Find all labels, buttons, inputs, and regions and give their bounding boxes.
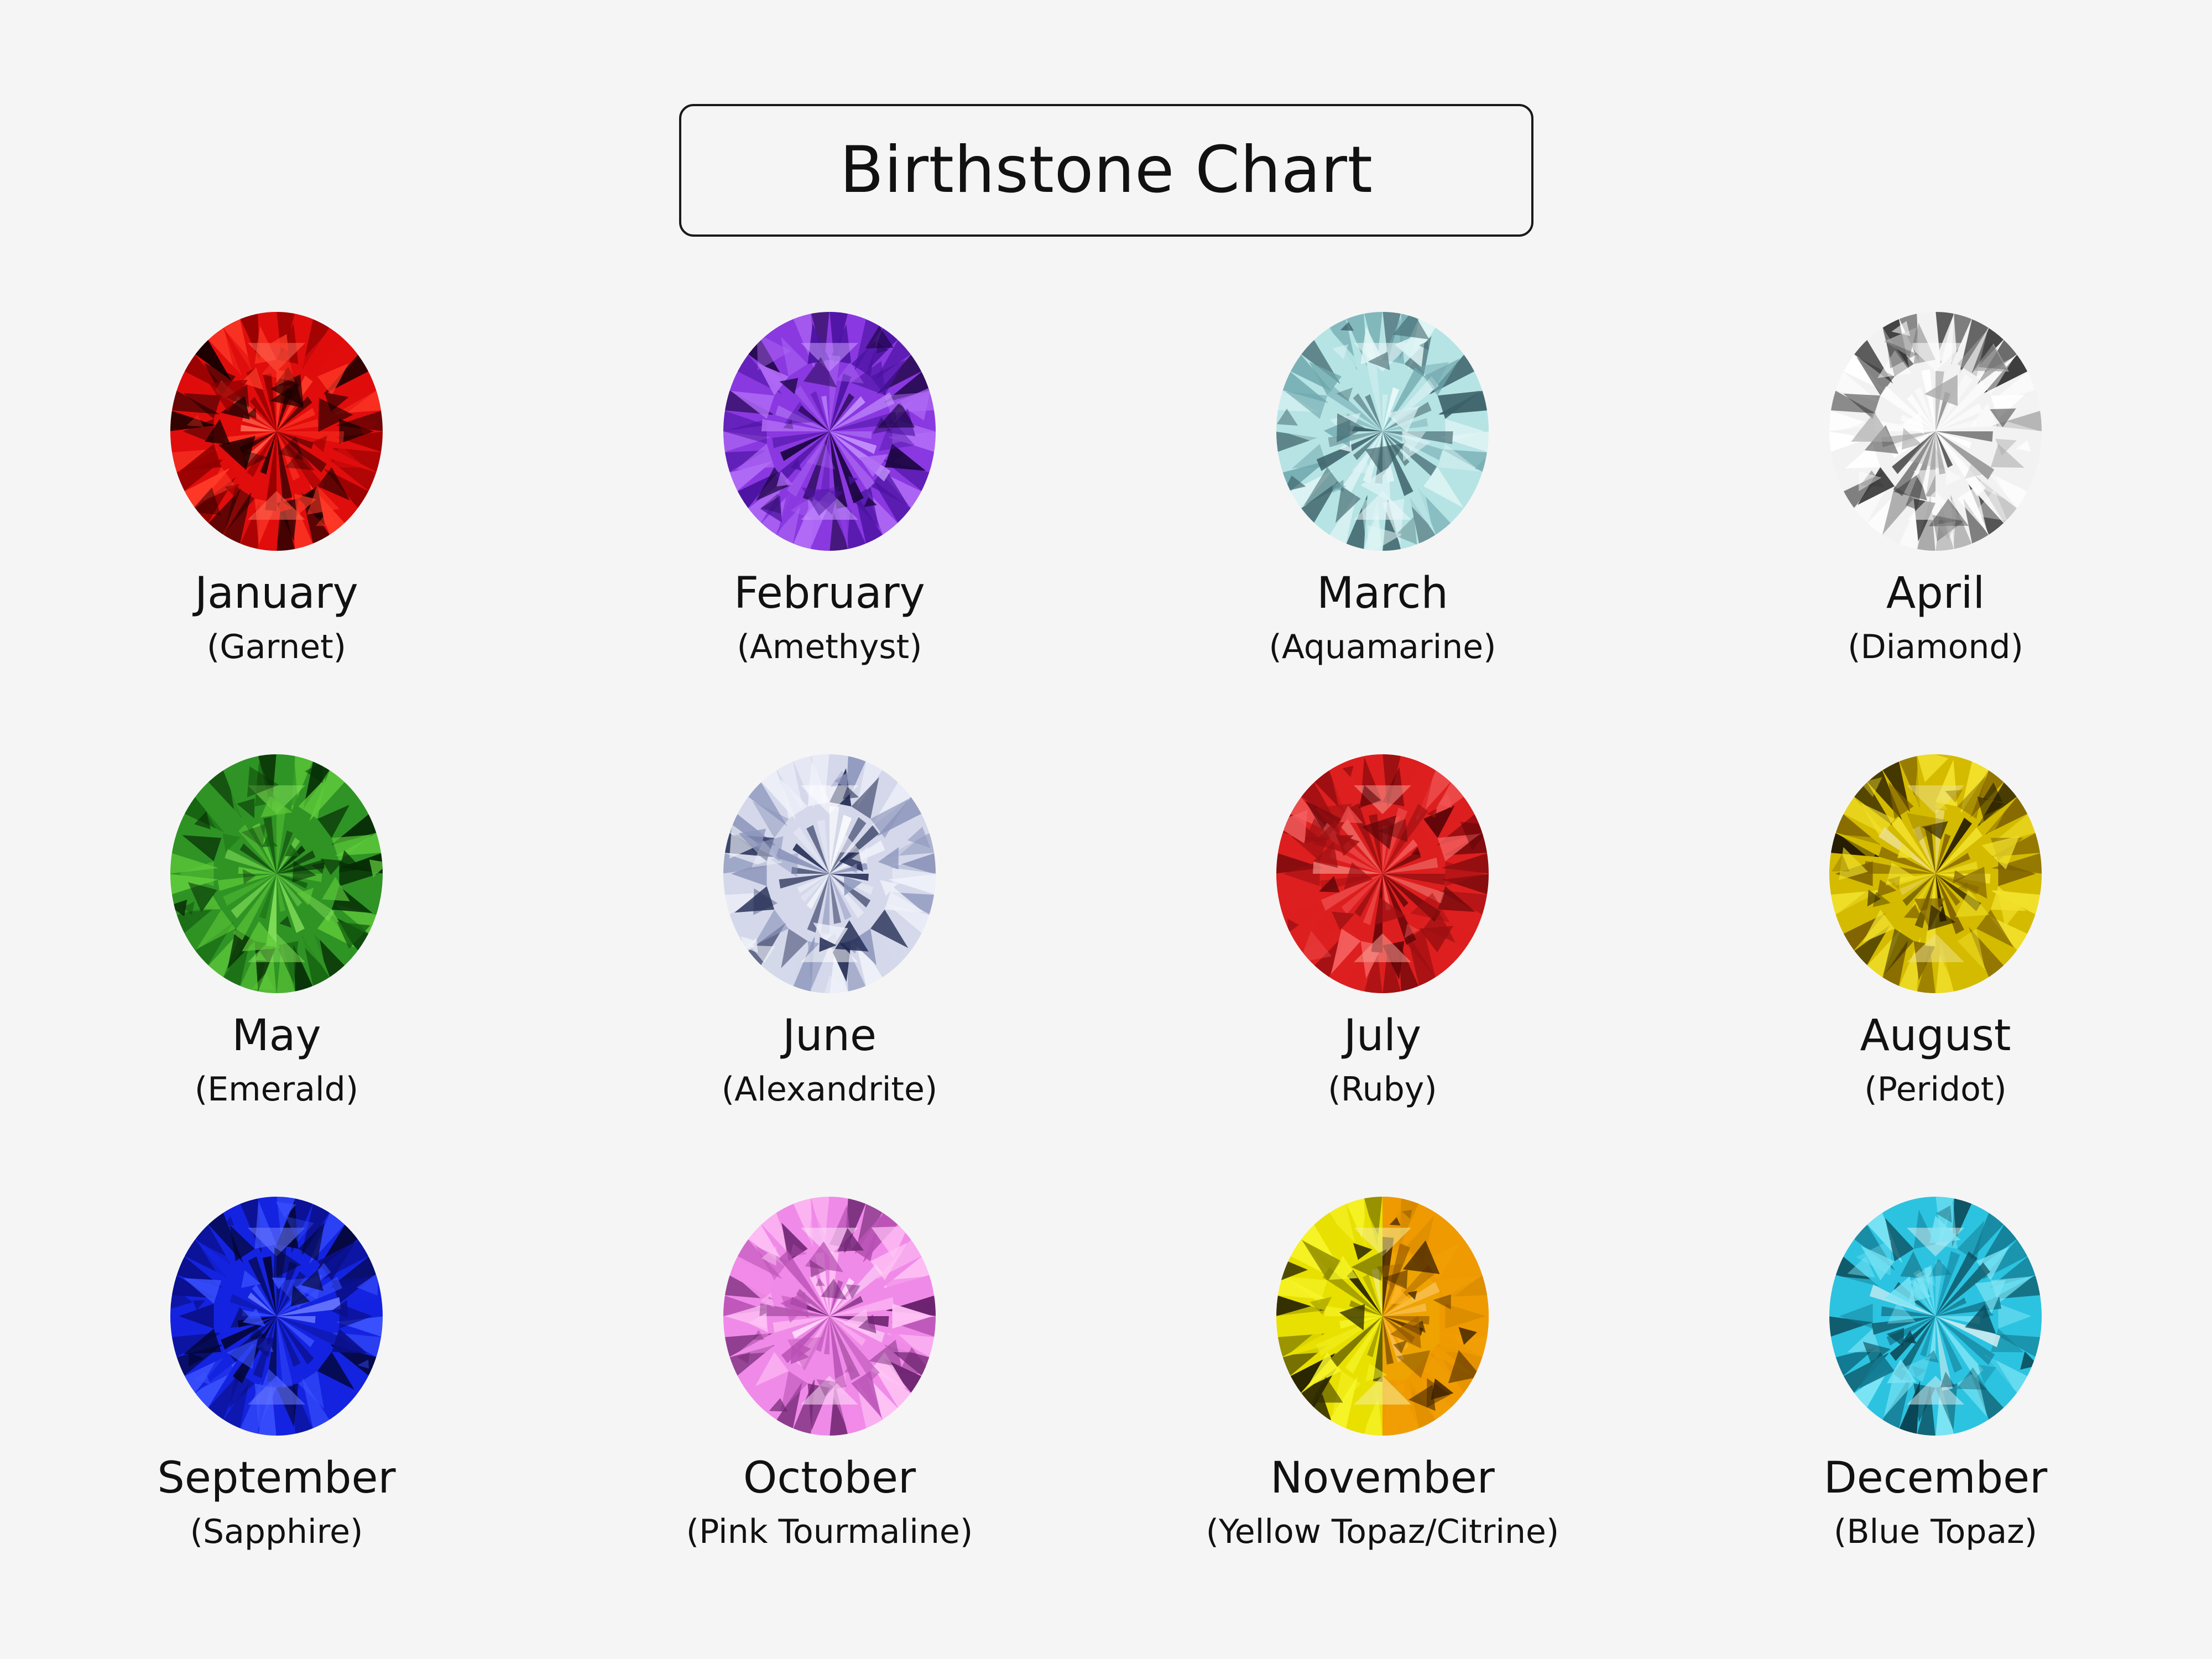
birthstone-cell-december[interactable]: December(Blue Topaz) bbox=[1659, 1194, 2212, 1637]
birthstone-row: September(Sapphire)October(Pink Tourmali… bbox=[0, 1194, 2212, 1637]
birthstone-cell-january[interactable]: January(Garnet) bbox=[0, 310, 553, 752]
stone-name-label: (Sapphire) bbox=[190, 1515, 363, 1548]
gem-icon-blue-topaz bbox=[1814, 1194, 2057, 1438]
birthstone-cell-may[interactable]: May(Emerald) bbox=[0, 752, 553, 1194]
stone-name-label: (Peridot) bbox=[1864, 1073, 2006, 1106]
stone-name-label: (Blue Topaz) bbox=[1834, 1515, 2037, 1548]
gem-icon-ruby bbox=[1261, 752, 1504, 995]
birthstone-cell-february[interactable]: February(Amethyst) bbox=[553, 310, 1106, 752]
birthstone-chart-page: Birthstone Chart January(Garnet)February… bbox=[0, 0, 2212, 1659]
month-label: January bbox=[195, 572, 358, 615]
month-label: October bbox=[743, 1457, 916, 1500]
month-label: August bbox=[1860, 1014, 2011, 1057]
birthstone-grid: January(Garnet)February(Amethyst)March(A… bbox=[0, 310, 2212, 1637]
month-label: July bbox=[1344, 1014, 1421, 1057]
birthstone-cell-april[interactable]: April(Diamond) bbox=[1659, 310, 2212, 752]
stone-name-label: (Ruby) bbox=[1328, 1073, 1437, 1106]
stone-name-label: (Alexandrite) bbox=[722, 1073, 938, 1106]
month-label: November bbox=[1270, 1457, 1495, 1500]
birthstone-cell-july[interactable]: July(Ruby) bbox=[1106, 752, 1659, 1194]
birthstone-cell-september[interactable]: September(Sapphire) bbox=[0, 1194, 553, 1637]
birthstone-cell-october[interactable]: October(Pink Tourmaline) bbox=[553, 1194, 1106, 1637]
gem-icon-yellow-topaz-citrine bbox=[1261, 1194, 1504, 1438]
gem-icon-aquamarine bbox=[1261, 310, 1504, 553]
birthstone-cell-june[interactable]: June(Alexandrite) bbox=[553, 752, 1106, 1194]
birthstone-cell-november[interactable]: November(Yellow Topaz/Citrine) bbox=[1106, 1194, 1659, 1637]
stone-name-label: (Diamond) bbox=[1848, 630, 2023, 664]
month-label: February bbox=[734, 572, 925, 615]
stone-name-label: (Yellow Topaz/Citrine) bbox=[1206, 1515, 1559, 1548]
page-title: Birthstone Chart bbox=[840, 138, 1373, 202]
birthstone-cell-august[interactable]: August(Peridot) bbox=[1659, 752, 2212, 1194]
gem-icon-garnet bbox=[155, 310, 398, 553]
gem-icon-peridot bbox=[1814, 752, 2057, 995]
gem-icon-emerald bbox=[155, 752, 398, 995]
chart-title-box: Birthstone Chart bbox=[679, 104, 1533, 237]
gem-icon-amethyst bbox=[708, 310, 951, 553]
birthstone-cell-march[interactable]: March(Aquamarine) bbox=[1106, 310, 1659, 752]
month-label: April bbox=[1886, 572, 1985, 615]
gem-icon-diamond bbox=[1814, 310, 2057, 553]
stone-name-label: (Amethyst) bbox=[737, 630, 922, 664]
birthstone-row: January(Garnet)February(Amethyst)March(A… bbox=[0, 310, 2212, 752]
month-label: September bbox=[157, 1457, 395, 1500]
stone-name-label: (Emerald) bbox=[195, 1073, 358, 1106]
month-label: March bbox=[1317, 572, 1448, 615]
month-label: June bbox=[782, 1014, 877, 1057]
month-label: May bbox=[232, 1014, 321, 1057]
gem-icon-sapphire bbox=[155, 1194, 398, 1438]
month-label: December bbox=[1824, 1457, 2047, 1500]
stone-name-label: (Garnet) bbox=[207, 630, 346, 664]
stone-name-label: (Aquamarine) bbox=[1269, 630, 1496, 664]
gem-icon-alexandrite bbox=[708, 752, 951, 995]
stone-name-label: (Pink Tourmaline) bbox=[686, 1515, 973, 1548]
gem-icon-pink-tourmaline bbox=[708, 1194, 951, 1438]
birthstone-row: May(Emerald)June(Alexandrite)July(Ruby)A… bbox=[0, 752, 2212, 1194]
